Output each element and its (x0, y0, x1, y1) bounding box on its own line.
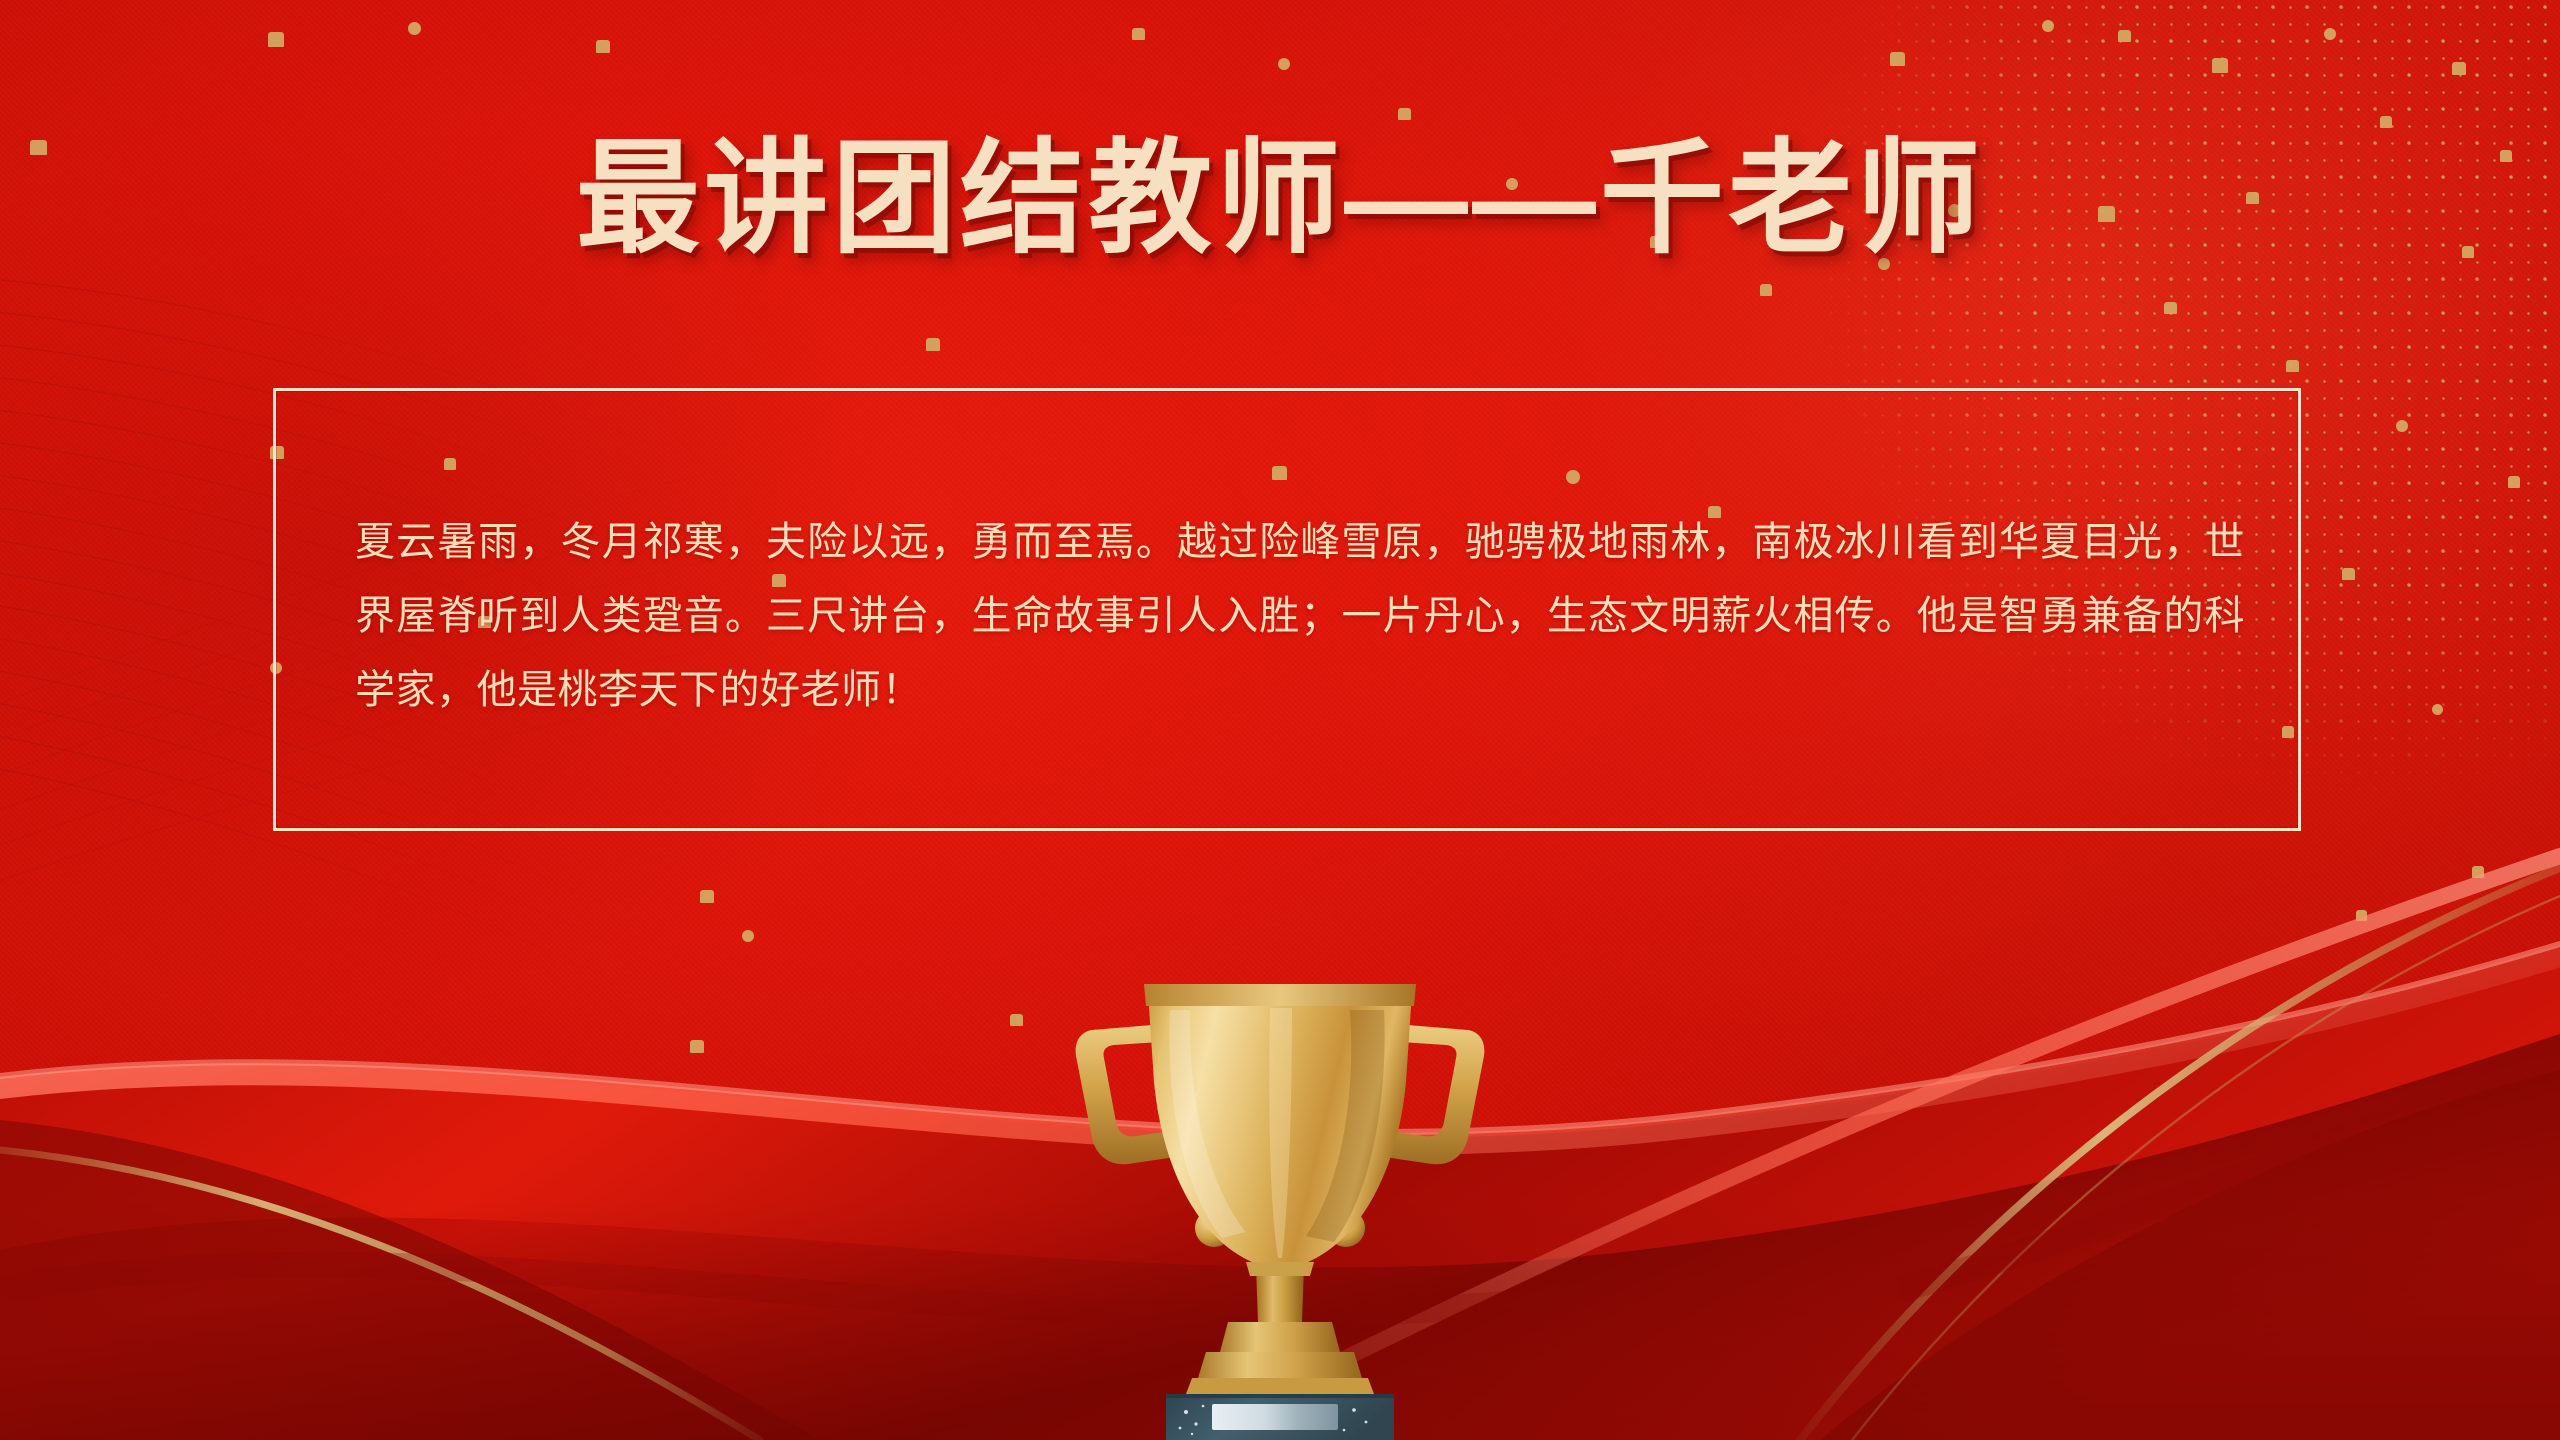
body-paragraph: 夏云暑雨，冬月祁寒，夫险以远，勇而至焉。越过险峰雪原，驰骋极地雨林，南极冰川看到… (355, 505, 2245, 727)
red-silk-ribbon (0, 820, 2560, 1440)
page-title: 最讲团结教师——千老师 (576, 130, 1984, 269)
page-title-container: 最讲团结教师——千老师 (0, 130, 2560, 269)
trophy-award-icon (1040, 970, 1520, 1440)
presentation-slide: 最讲团结教师——千老师 夏云暑雨，冬月祁寒，夫险以远，勇而至焉。越过险峰雪原，驰… (0, 0, 2560, 1440)
bottom-vignette (0, 1200, 2560, 1440)
